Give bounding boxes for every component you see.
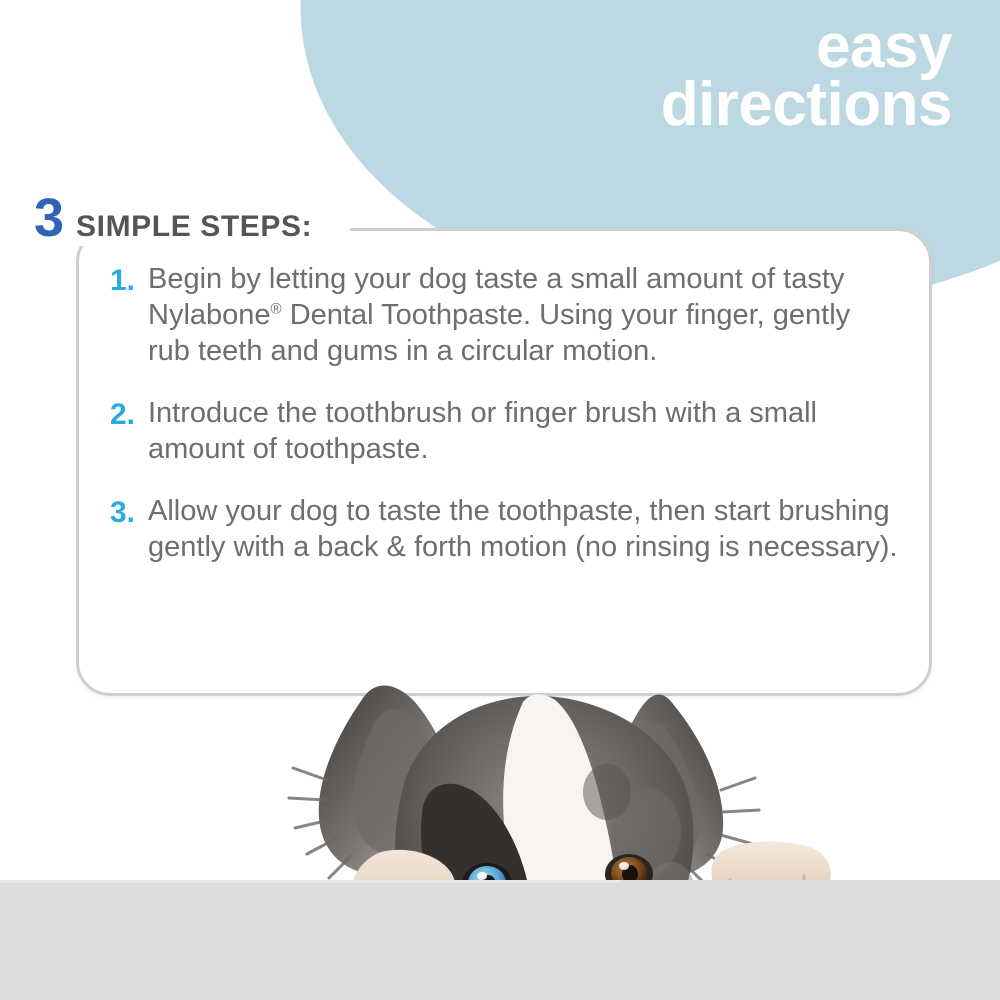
easy-directions-infographic: easy directions 3 SIMPLE STEPS: 1. Begin… xyxy=(0,0,1000,1000)
steps-heading: 3 SIMPLE STEPS: xyxy=(34,191,312,245)
table-surface-highlight xyxy=(0,880,620,883)
steps-list: 1. Begin by letting your dog taste a sma… xyxy=(110,262,900,566)
registered-trademark-icon: ® xyxy=(271,300,282,317)
steps-heading-label: SIMPLE STEPS: xyxy=(76,210,312,244)
step-number: 2. xyxy=(110,396,148,433)
step-text: Allow your dog to taste the toothpaste, … xyxy=(148,494,900,566)
list-item: 2. Introduce the toothbrush or finger br… xyxy=(110,396,900,468)
table-surface xyxy=(0,880,1000,1000)
step-text: Begin by letting your dog taste a small … xyxy=(148,262,900,370)
steps-count: 3 xyxy=(34,191,64,245)
step-number: 1. xyxy=(110,262,148,299)
list-item: 3. Allow your dog to taste the toothpast… xyxy=(110,494,900,566)
step-text: Introduce the toothbrush or finger brush… xyxy=(148,396,900,468)
page-title: easy directions xyxy=(661,18,952,135)
headline-line-2: directions xyxy=(661,76,952,134)
headline-line-1: easy xyxy=(661,18,952,76)
list-item: 1. Begin by letting your dog taste a sma… xyxy=(110,262,900,370)
step-number: 3. xyxy=(110,494,148,531)
